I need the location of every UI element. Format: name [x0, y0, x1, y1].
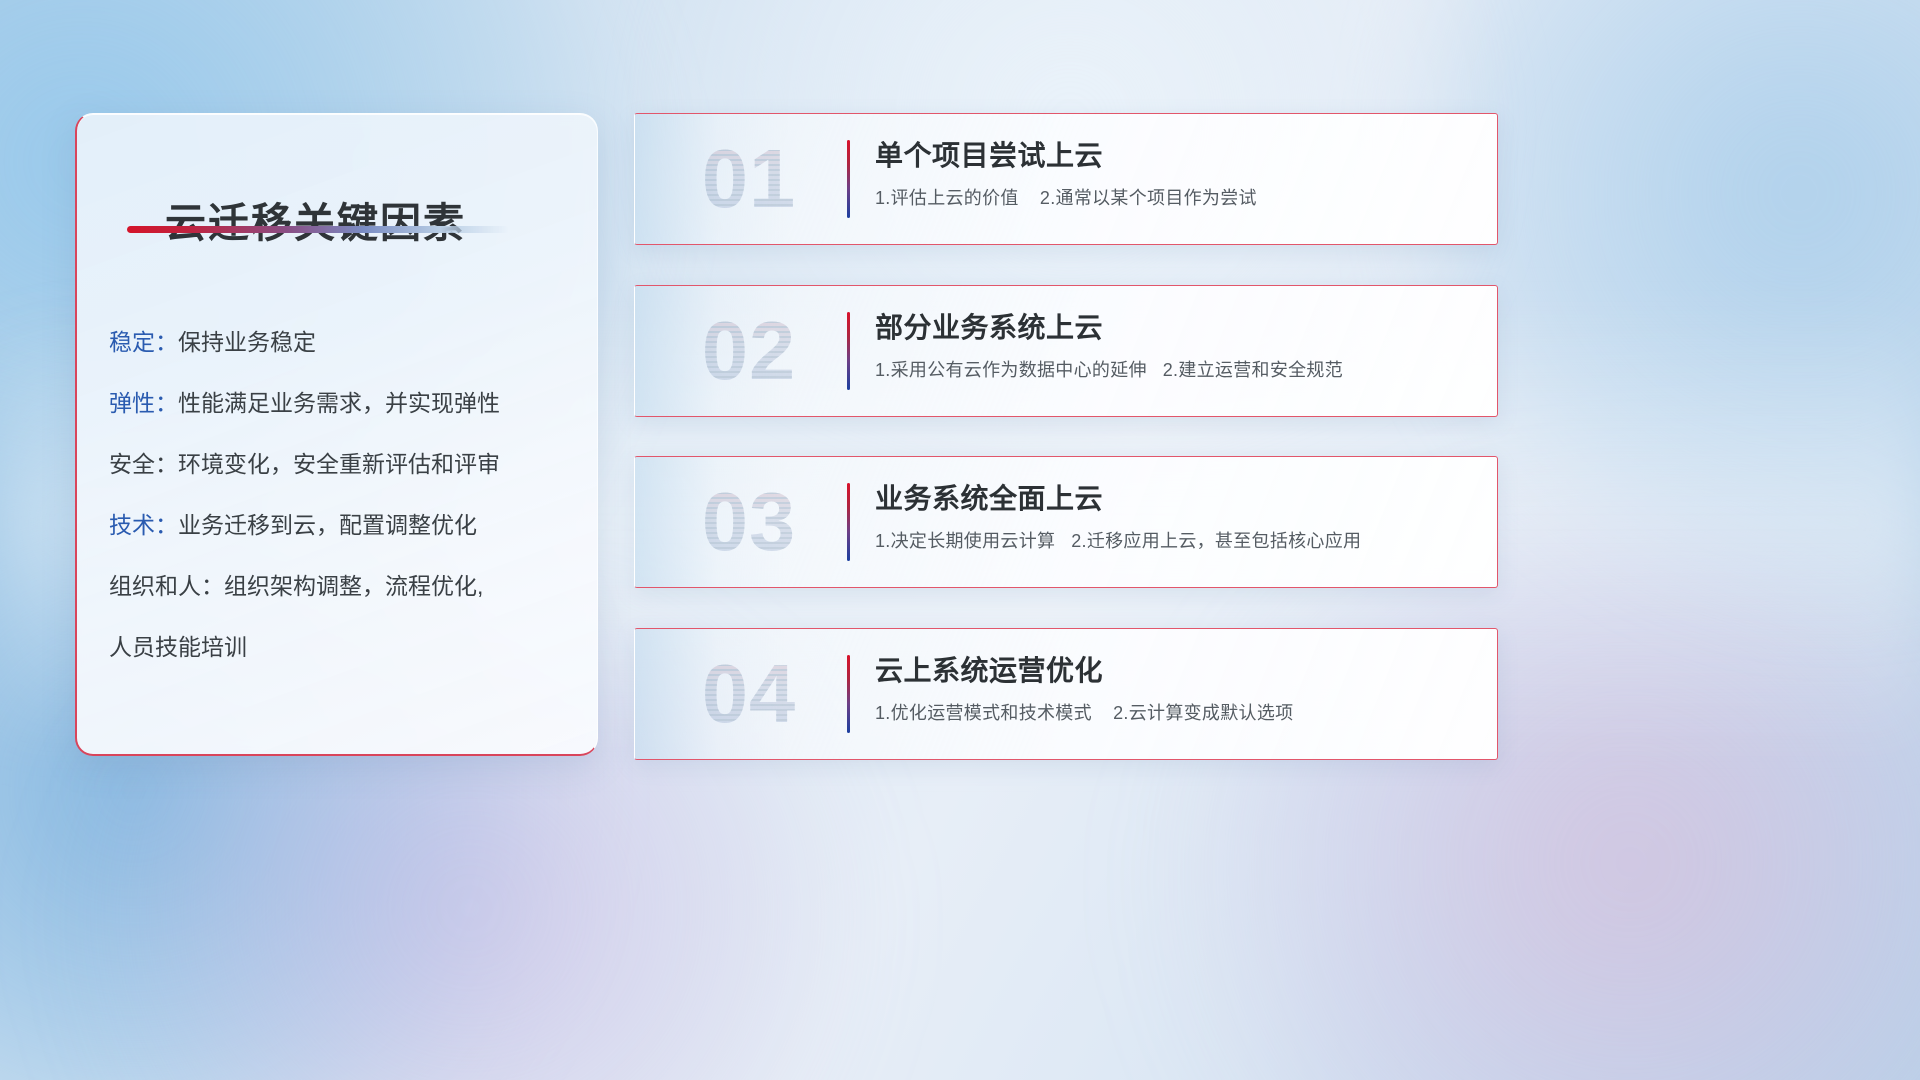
stage-accent-bar: [847, 655, 850, 733]
stage-card-title: 单个项目尝试上云: [875, 136, 1477, 176]
slide-stage: 云迁移关键因素 稳定：保持业务稳定 弹性：性能满足业务需求，并实现弹性 安全：环…: [0, 0, 1920, 1080]
list-item-key: 弹性：: [109, 390, 178, 416]
list-item-value: 环境变化，安全重新评估和评审: [178, 451, 500, 477]
stage-accent-bar: [847, 312, 850, 390]
stage-number-watermark: 03: [669, 467, 829, 577]
stage-accent-bar: [847, 140, 850, 218]
stage-card-body: 云上系统运营优化 1.优化运营模式和技术模式 2.云计算变成默认选项: [875, 651, 1477, 726]
stage-number-watermark: 02: [669, 296, 829, 406]
list-item-value: 组织架构调整，流程优化,: [224, 573, 483, 599]
key-factors-panel: 云迁移关键因素 稳定：保持业务稳定 弹性：性能满足业务需求，并实现弹性 安全：环…: [75, 113, 598, 756]
list-item-value: 保持业务稳定: [178, 329, 316, 355]
list-item: 稳定：保持业务稳定: [109, 312, 579, 373]
list-item-key: 组织和人：: [109, 573, 224, 599]
stage-card[interactable]: 03 业务系统全面上云 1.决定长期使用云计算 2.迁移应用上云，甚至包括核心应…: [634, 456, 1498, 588]
stage-number-watermark: 04: [669, 639, 829, 749]
list-item: 人员技能培训: [109, 617, 579, 678]
stage-card-body: 业务系统全面上云 1.决定长期使用云计算 2.迁移应用上云，甚至包括核心应用: [875, 479, 1477, 554]
list-item-value: 业务迁移到云，配置调整优化: [178, 512, 477, 538]
stage-card-title: 部分业务系统上云: [875, 308, 1477, 348]
stage-card[interactable]: 04 云上系统运营优化 1.优化运营模式和技术模式 2.云计算变成默认选项: [634, 628, 1498, 760]
key-factors-list: 稳定：保持业务稳定 弹性：性能满足业务需求，并实现弹性 安全：环境变化，安全重新…: [109, 312, 579, 678]
list-item-key: 稳定：: [109, 329, 178, 355]
list-item: 技术：业务迁移到云，配置调整优化: [109, 495, 579, 556]
panel-title-underline: [127, 226, 509, 233]
list-item-value: 性能满足业务需求，并实现弹性: [178, 390, 500, 416]
stage-card[interactable]: 01 单个项目尝试上云 1.评估上云的价值 2.通常以某个项目作为尝试: [634, 113, 1498, 245]
stage-number-watermark: 01: [669, 124, 829, 234]
list-item-key: 安全：: [109, 451, 178, 477]
list-item-key: 技术：: [109, 512, 178, 538]
panel-title: 云迁移关键因素: [165, 189, 466, 249]
stage-card[interactable]: 02 部分业务系统上云 1.采用公有云作为数据中心的延伸 2.建立运营和安全规范: [634, 285, 1498, 417]
stage-card-body: 部分业务系统上云 1.采用公有云作为数据中心的延伸 2.建立运营和安全规范: [875, 308, 1477, 383]
stage-card-description: 1.优化运营模式和技术模式 2.云计算变成默认选项: [875, 700, 1477, 726]
stage-card-title: 业务系统全面上云: [875, 479, 1477, 519]
stage-card-body: 单个项目尝试上云 1.评估上云的价值 2.通常以某个项目作为尝试: [875, 136, 1477, 211]
stage-card-description: 1.评估上云的价值 2.通常以某个项目作为尝试: [875, 185, 1477, 211]
stage-card-description: 1.采用公有云作为数据中心的延伸 2.建立运营和安全规范: [875, 357, 1477, 383]
list-item: 安全：环境变化，安全重新评估和评审: [109, 434, 579, 495]
stage-card-description: 1.决定长期使用云计算 2.迁移应用上云，甚至包括核心应用: [875, 528, 1477, 554]
stage-card-title: 云上系统运营优化: [875, 651, 1477, 691]
stage-accent-bar: [847, 483, 850, 561]
list-item-value: 人员技能培训: [109, 634, 247, 660]
list-item: 弹性：性能满足业务需求，并实现弹性: [109, 373, 579, 434]
list-item: 组织和人：组织架构调整，流程优化,: [109, 556, 579, 617]
